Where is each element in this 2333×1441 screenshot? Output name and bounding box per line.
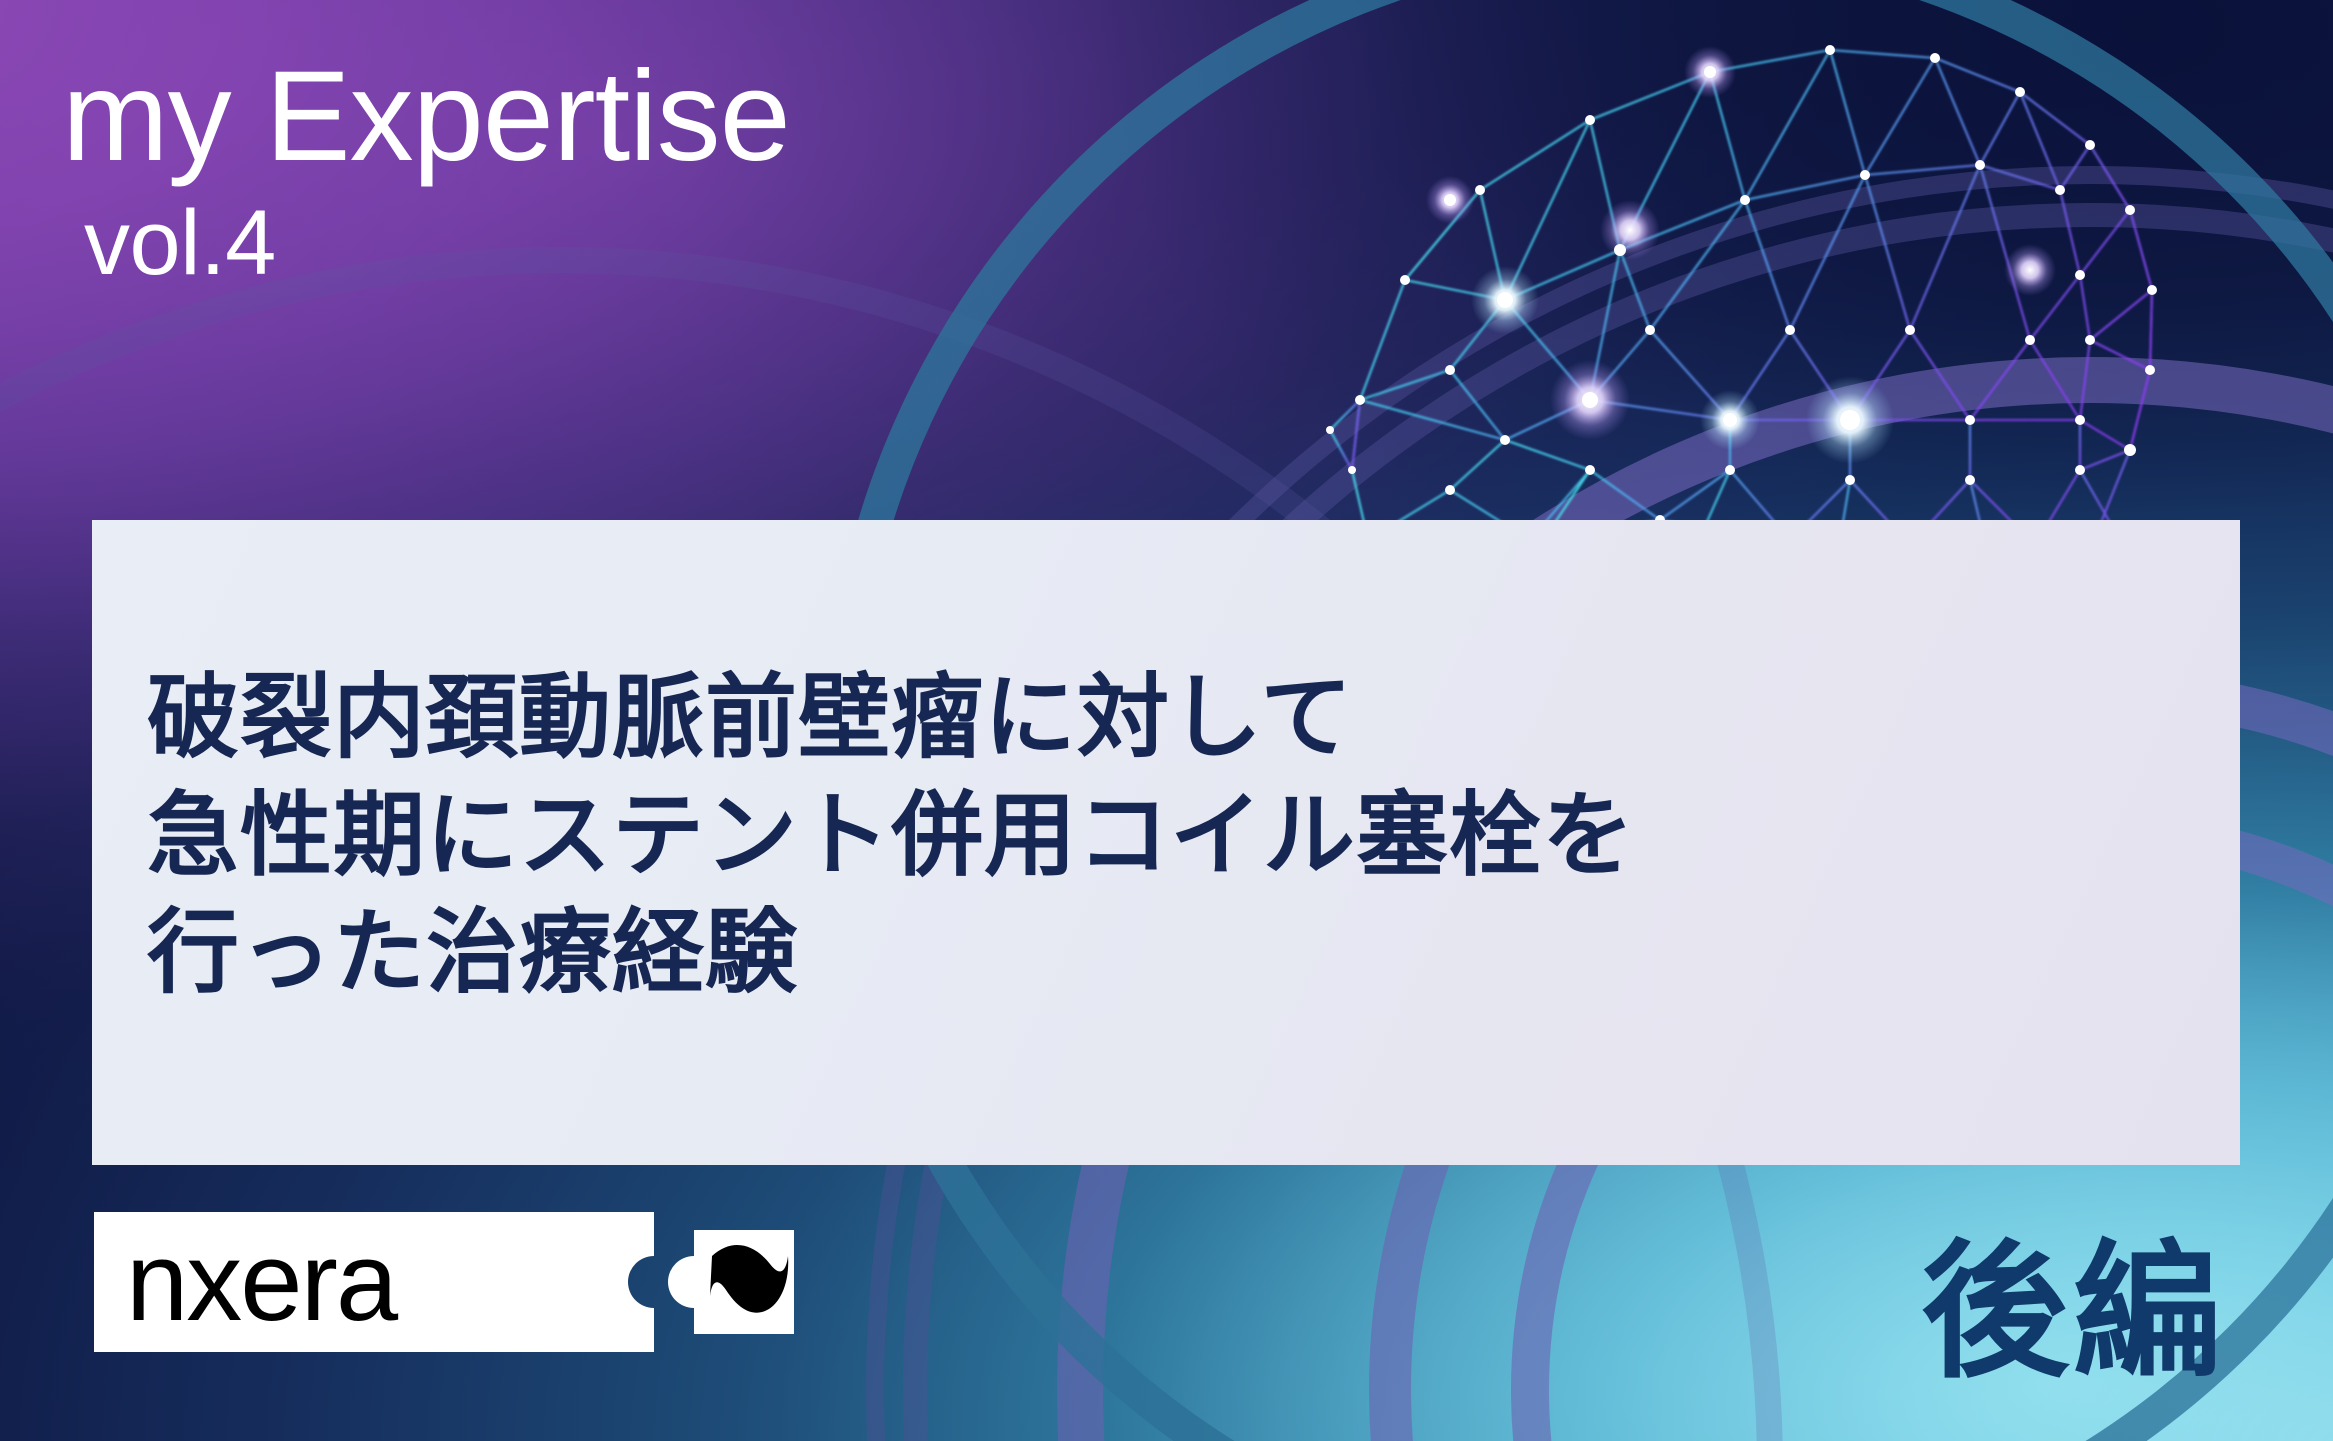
headline-panel: 破裂内頚動脈前壁瘤に対して 急性期にステント併用コイル塞栓を 行った治療経験: [92, 520, 2240, 1165]
nxera-logo: nxera: [94, 1212, 794, 1357]
volume-label: vol.4: [84, 195, 790, 292]
headline-line-3: 行った治療経験: [147, 895, 2240, 1013]
header-title-block: my Expertise vol.4: [62, 52, 790, 291]
headline-line-1: 破裂内頚動脈前壁瘤に対して: [147, 660, 2240, 778]
page-title: my Expertise: [62, 52, 790, 183]
title-card-canvas: my Expertise vol.4 破裂内頚動脈前壁瘤に対して 急性期にステン…: [0, 0, 2333, 1441]
headline-panel-inner: 破裂内頚動脈前壁瘤に対して 急性期にステント併用コイル塞栓を 行った治療経験: [92, 660, 2240, 1025]
headline-line-2: 急性期にステント併用コイル塞栓を: [147, 778, 2240, 896]
status-badge: 後編: [1921, 1239, 2225, 1387]
logo-wordmark-text: nxera: [126, 1219, 399, 1344]
